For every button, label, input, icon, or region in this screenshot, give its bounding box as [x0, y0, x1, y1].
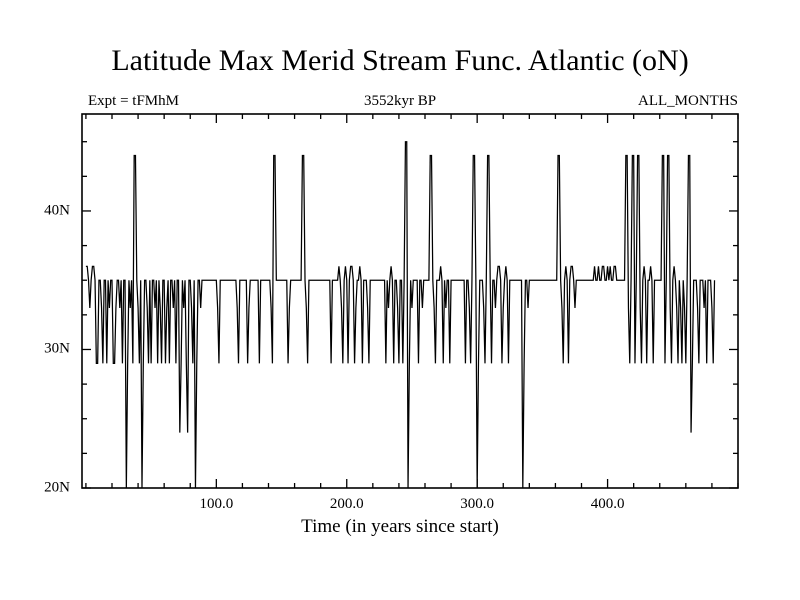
- plot-area: [0, 0, 800, 600]
- x-tick-label: 300.0: [460, 496, 494, 513]
- y-tick-label: 20N: [0, 480, 70, 497]
- x-tick-label: 200.0: [330, 496, 364, 513]
- x-axis-title: Time (in years since start): [0, 516, 800, 538]
- y-tick-label: 30N: [0, 341, 70, 358]
- chart-canvas: Latitude Max Merid Stream Func. Atlantic…: [0, 0, 800, 600]
- x-tick-label: 400.0: [591, 496, 625, 513]
- x-tick-label: 100.0: [199, 496, 233, 513]
- y-tick-label: 40N: [0, 202, 70, 219]
